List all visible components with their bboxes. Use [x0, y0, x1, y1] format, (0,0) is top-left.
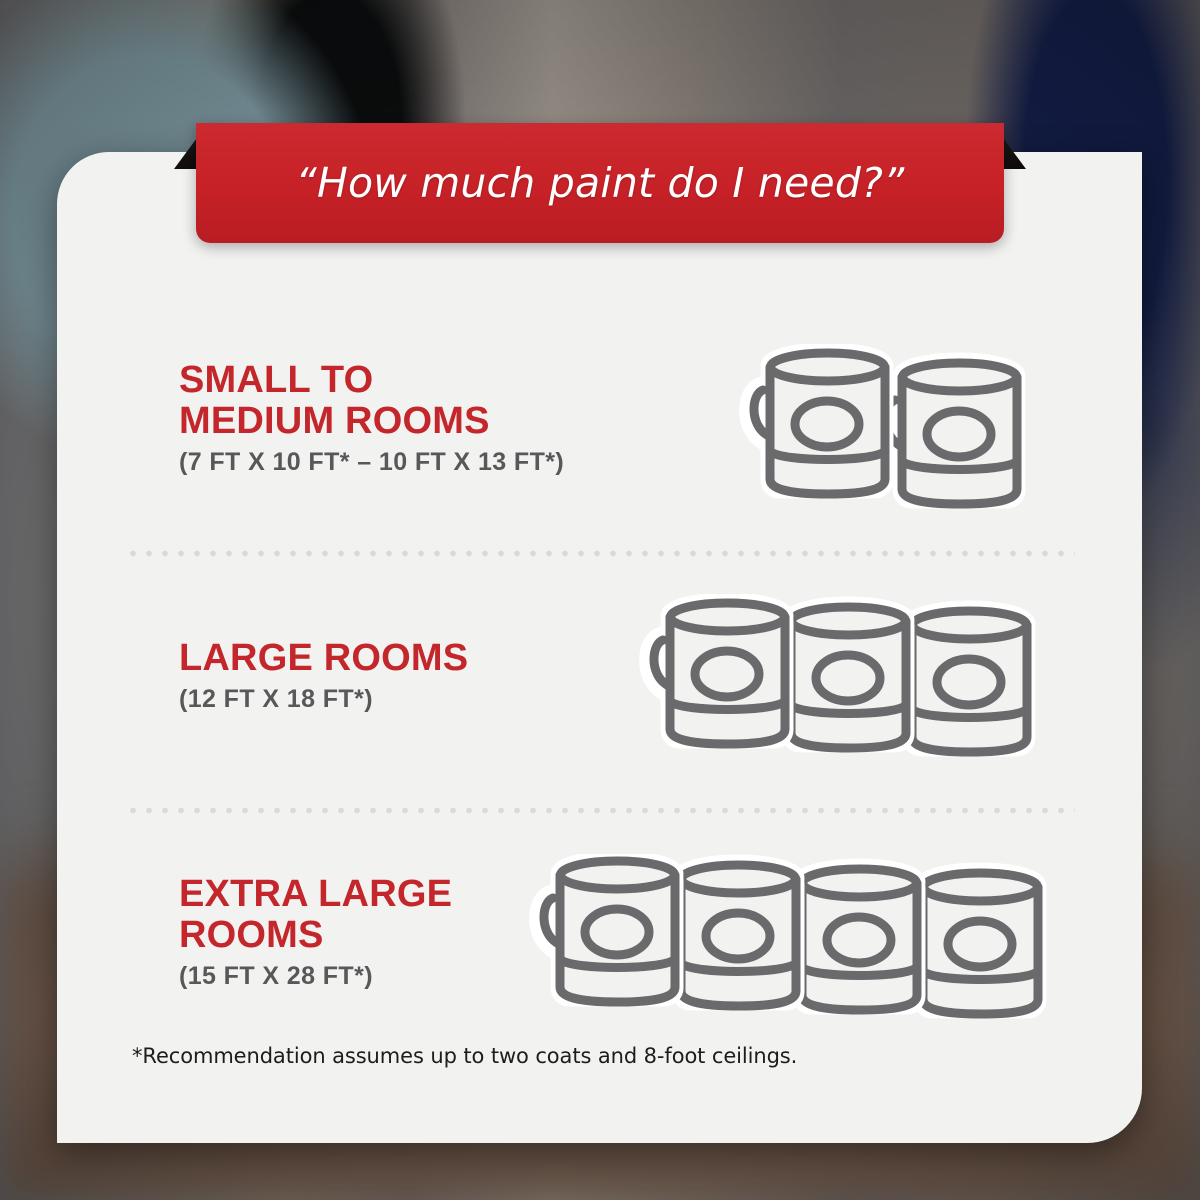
- divider-2: [125, 807, 1075, 814]
- row-extra-large: EXTRA LARGE ROOMS (15 FT X 28 FT*): [57, 842, 1142, 1042]
- paint-can-icon-0: [751, 351, 885, 494]
- row-dimensions-1: (12 FT X 18 FT*): [179, 685, 468, 714]
- paint-can-icon-0: [541, 859, 675, 1002]
- paint-cans-group-0: [735, 344, 1035, 529]
- row-large: LARGE ROOMS (12 FT X 18 FT*): [57, 582, 1142, 782]
- row-heading-1: LARGE ROOMS: [179, 638, 468, 679]
- paint-cans-group-1: [635, 594, 1045, 779]
- row-heading-2: EXTRA LARGE ROOMS: [179, 874, 452, 956]
- title-banner: “How much paint do I need?”: [196, 123, 1004, 243]
- paint-can-icon-0: [651, 601, 785, 744]
- row-dimensions-0: (7 FT X 10 FT* – 10 FT X 13 FT*): [179, 448, 564, 477]
- info-card: SMALL TO MEDIUM ROOMS (7 FT X 10 FT* – 1…: [57, 152, 1142, 1143]
- paint-cans-group-2: [525, 854, 1055, 1039]
- row-text-1: LARGE ROOMS (12 FT X 18 FT*): [179, 638, 468, 714]
- row-small-to-medium: SMALL TO MEDIUM ROOMS (7 FT X 10 FT* – 1…: [57, 322, 1142, 522]
- footnote-text: *Recommendation assumes up to two coats …: [132, 1044, 797, 1068]
- banner-title-text: “How much paint do I need?”: [296, 159, 905, 207]
- row-heading-0: SMALL TO MEDIUM ROOMS: [179, 360, 564, 442]
- banner-wrapper: “How much paint do I need?”: [196, 123, 1004, 243]
- rows-container: SMALL TO MEDIUM ROOMS (7 FT X 10 FT* – 1…: [57, 152, 1142, 1143]
- infographic-stage: SMALL TO MEDIUM ROOMS (7 FT X 10 FT* – 1…: [0, 0, 1200, 1200]
- row-dimensions-2: (15 FT X 28 FT*): [179, 962, 452, 991]
- row-text-2: EXTRA LARGE ROOMS (15 FT X 28 FT*): [179, 874, 452, 991]
- divider-1: [125, 550, 1075, 557]
- row-text-0: SMALL TO MEDIUM ROOMS (7 FT X 10 FT* – 1…: [179, 360, 564, 477]
- paint-can-icon-1: [883, 361, 1017, 504]
